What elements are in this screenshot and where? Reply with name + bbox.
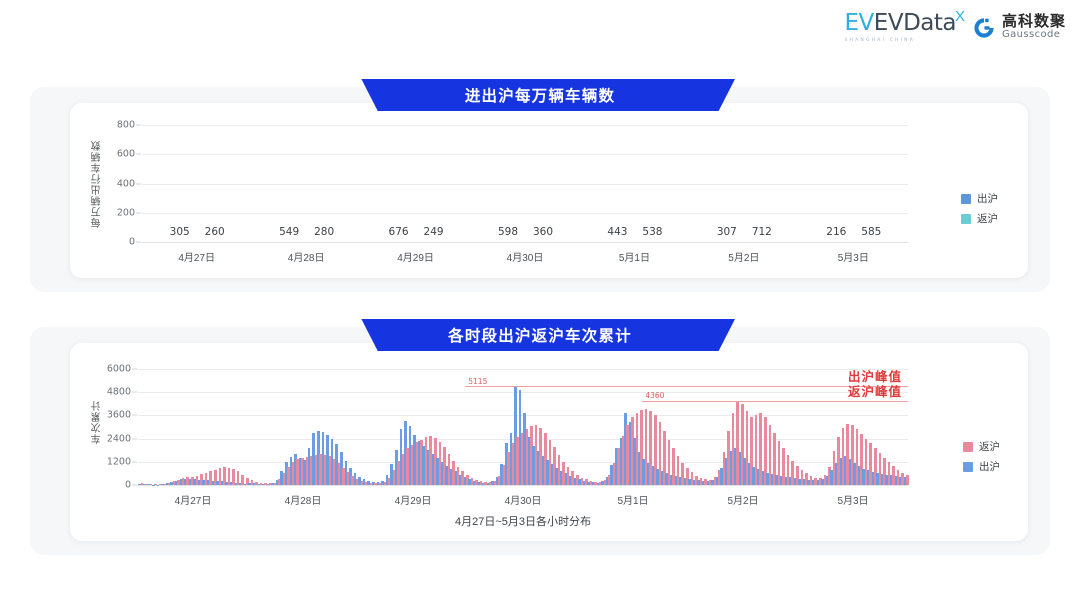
xtick-label: 5月3日 bbox=[838, 249, 869, 264]
ytick-label: 2400 bbox=[107, 433, 131, 444]
xtick-label: 4月29日 bbox=[395, 492, 432, 507]
legend-item-出沪[interactable]: 出沪 bbox=[963, 459, 1000, 474]
gridline bbox=[138, 485, 908, 486]
daily-chart-ylabel: 每万辆出行车辆数 bbox=[90, 140, 105, 228]
xtick-label: 4月28日 bbox=[288, 249, 325, 264]
ytick-label: 1200 bbox=[107, 456, 131, 467]
legend-item-返沪[interactable]: 返沪 bbox=[961, 211, 998, 226]
hourly-chart-legend[interactable]: 返沪出沪 bbox=[963, 439, 1000, 474]
ytick-label: 800 bbox=[117, 120, 135, 131]
bar-value-label: 360 bbox=[533, 226, 553, 238]
hourly-chart-ylabel: 车次累计 bbox=[90, 400, 105, 444]
xtick-label: 4月29日 bbox=[397, 249, 434, 264]
hourly-chart-card: 车次累计 012002400360048006000 5115出沪峰值4360返… bbox=[70, 343, 1028, 541]
legend-label: 返沪 bbox=[977, 211, 998, 226]
legend-label: 出沪 bbox=[979, 459, 1000, 474]
ytick-label: 600 bbox=[117, 149, 135, 160]
bar-value-label: 260 bbox=[205, 226, 225, 238]
annotation-value: 4360 bbox=[645, 391, 664, 400]
xtick-label: 4月27日 bbox=[178, 249, 215, 264]
bar-value-label: 549 bbox=[279, 226, 299, 238]
hourly-chart-plot: 车次累计 012002400360048006000 5115出沪峰值4360返… bbox=[138, 369, 908, 485]
annotation-line bbox=[465, 386, 908, 387]
legend-item-出沪[interactable]: 出沪 bbox=[961, 191, 998, 206]
bar-value-label: 249 bbox=[424, 226, 444, 238]
xtick-label: 5月1日 bbox=[619, 249, 650, 264]
xtick-label: 4月30日 bbox=[505, 492, 542, 507]
evdata-logo: EVEVData X SHANGHAI CHINA bbox=[845, 12, 956, 43]
ytick-label: 400 bbox=[117, 178, 135, 189]
daily-chart-card: 每万辆出行车辆数 0200400600800 30526054928067624… bbox=[70, 103, 1028, 278]
hour-bar-back bbox=[906, 475, 909, 485]
bar-value-label: 216 bbox=[826, 226, 846, 238]
annotation-value: 5115 bbox=[468, 377, 487, 386]
evdata-x-icon: X bbox=[955, 8, 965, 25]
daily-chart-legend[interactable]: 出沪返沪 bbox=[961, 191, 998, 226]
daily-chart-panel: 每万辆出行车辆数 0200400600800 30526054928067624… bbox=[30, 87, 1050, 292]
bar-value-label: 307 bbox=[717, 226, 737, 238]
hourly-chart-title: 各时段出沪返沪车次累计 bbox=[448, 324, 632, 346]
ytick-label: 0 bbox=[125, 480, 131, 491]
hourly-chart-xlabel: 4月27日~5月3日各小时分布 bbox=[455, 513, 591, 529]
legend-swatch bbox=[963, 462, 973, 472]
bar-value-label: 585 bbox=[861, 226, 881, 238]
gridline bbox=[142, 125, 908, 126]
xtick-label: 5月2日 bbox=[727, 492, 758, 507]
bar-value-label: 538 bbox=[642, 226, 662, 238]
legend-swatch bbox=[961, 214, 971, 224]
annotation-line bbox=[642, 401, 908, 402]
ytick-label: 6000 bbox=[107, 364, 131, 375]
gausscode-mark-icon bbox=[972, 16, 996, 40]
hourly-chart-title-banner: 各时段出沪返沪车次累计 bbox=[345, 319, 735, 351]
bar-value-label: 280 bbox=[314, 226, 334, 238]
gridline bbox=[142, 154, 908, 155]
xtick-label: 4月27日 bbox=[175, 492, 212, 507]
xtick-label: 5月1日 bbox=[617, 492, 648, 507]
legend-label: 出沪 bbox=[977, 191, 998, 206]
gridline bbox=[142, 242, 908, 243]
bar-value-label: 712 bbox=[752, 226, 772, 238]
ytick-label: 200 bbox=[117, 207, 135, 218]
legend-swatch bbox=[961, 194, 971, 204]
daily-chart-plot: 每万辆出行车辆数 0200400600800 30526054928067624… bbox=[142, 125, 908, 242]
bar-value-label: 676 bbox=[389, 226, 409, 238]
ytick-label: 3600 bbox=[107, 410, 131, 421]
xtick-label: 5月3日 bbox=[837, 492, 868, 507]
ytick-mark bbox=[136, 183, 141, 184]
ytick-label: 4800 bbox=[107, 387, 131, 398]
gausscode-cn-name: 高科数聚 bbox=[1002, 14, 1066, 30]
ytick-mark bbox=[136, 154, 141, 155]
legend-label: 返沪 bbox=[979, 439, 1000, 454]
ytick-mark bbox=[132, 369, 137, 370]
ytick-mark bbox=[136, 242, 141, 243]
legend-item-返沪[interactable]: 返沪 bbox=[963, 439, 1000, 454]
gridline bbox=[142, 213, 908, 214]
gausscode-en-name: Gausscode bbox=[1002, 30, 1066, 41]
annotation-label: 返沪峰值 bbox=[848, 381, 902, 400]
ytick-mark bbox=[132, 485, 137, 486]
daily-chart-title-banner: 进出沪每万辆车辆数 bbox=[345, 79, 735, 111]
legend-swatch bbox=[963, 442, 973, 452]
ytick-mark bbox=[132, 438, 137, 439]
evdata-subtitle: SHANGHAI CHINA bbox=[845, 38, 916, 43]
gridline bbox=[142, 184, 908, 185]
gausscode-logo: 高科数聚 Gausscode bbox=[972, 14, 1066, 40]
ytick-label: 0 bbox=[129, 237, 135, 248]
bar-value-label: 443 bbox=[607, 226, 627, 238]
xtick-label: 5月2日 bbox=[728, 249, 759, 264]
bar-value-label: 305 bbox=[170, 226, 190, 238]
xtick-label: 4月28日 bbox=[285, 492, 322, 507]
hourly-chart-panel: 车次累计 012002400360048006000 5115出沪峰值4360返… bbox=[30, 327, 1050, 555]
ytick-mark bbox=[132, 415, 137, 416]
header-logos: EVEVData X SHANGHAI CHINA 高科数聚 Gausscode bbox=[845, 12, 1066, 43]
bar-value-label: 598 bbox=[498, 226, 518, 238]
xtick-label: 4月30日 bbox=[507, 249, 544, 264]
ytick-mark bbox=[132, 392, 137, 393]
evdata-wordmark: EVEVData bbox=[845, 12, 956, 35]
daily-chart-title: 进出沪每万辆车辆数 bbox=[465, 84, 615, 106]
ytick-mark bbox=[136, 125, 141, 126]
ytick-mark bbox=[136, 212, 141, 213]
ytick-mark bbox=[132, 461, 137, 462]
